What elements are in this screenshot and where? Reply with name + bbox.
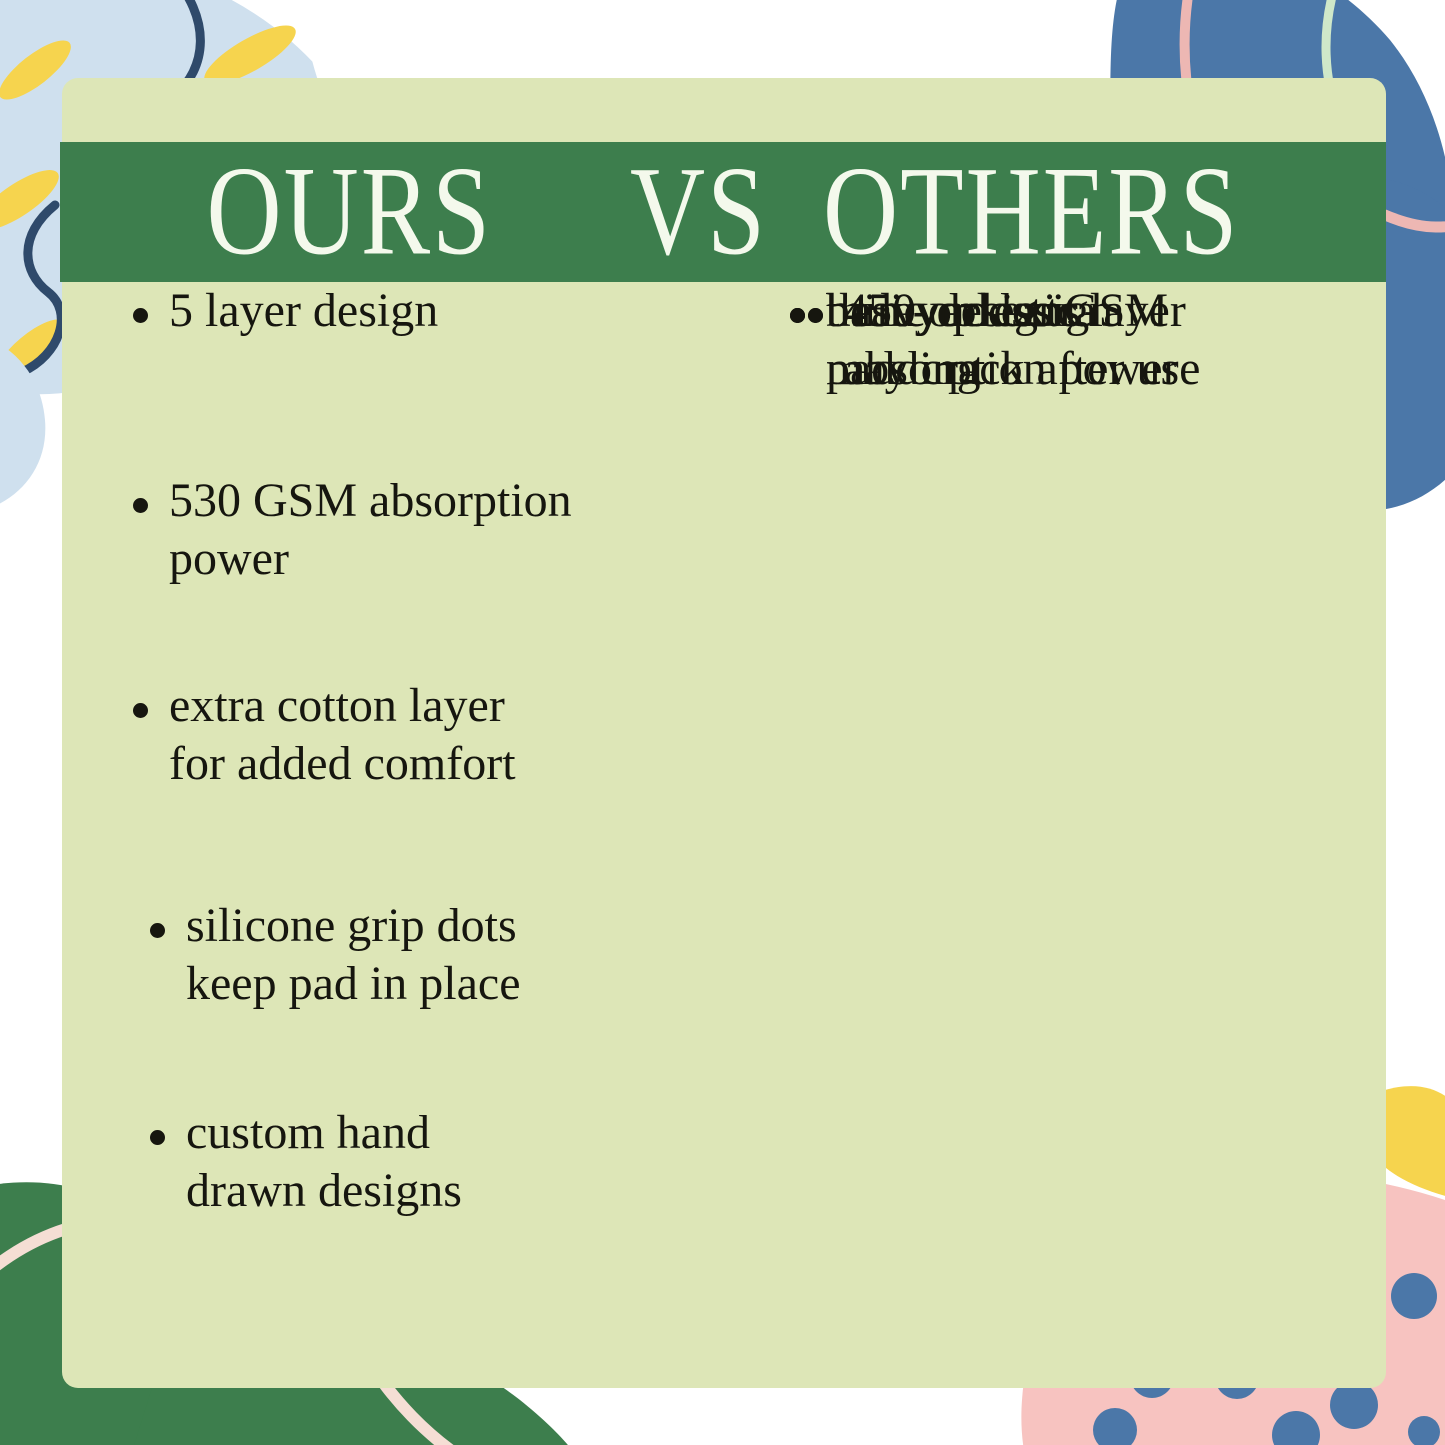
list-item-label: 5 layer design	[169, 282, 438, 340]
page-title: OURS VS OTHERS	[207, 149, 1240, 276]
list-item: custom hand drawn designs	[150, 1104, 462, 1220]
bullet-dot-icon	[150, 1130, 165, 1145]
list-item-label: silicone grip dots keep pad in place	[186, 897, 521, 1013]
list-item: 5 layer design	[133, 282, 438, 340]
list-item: silicone grip dots keep pad in place	[150, 897, 521, 1013]
list-item: 530 GSM absorption power	[133, 472, 572, 588]
list-item-label: custom hand drawn designs	[186, 1104, 462, 1220]
title-banner: OURS VS OTHERS	[60, 142, 1386, 282]
bullet-dot-icon	[133, 703, 148, 718]
list-item-label: 530 GSM absorption power	[169, 472, 572, 588]
bullet-dot-icon	[790, 308, 805, 323]
list-item-label: basic designs	[826, 282, 1081, 340]
bullet-dot-icon	[150, 923, 165, 938]
comparison-card: OURS VS OTHERS 5 layer design 530 GSM ab…	[62, 78, 1386, 1388]
column-ours: 5 layer design 530 GSM absorption power …	[62, 282, 790, 1388]
comparison-columns: 5 layer design 530 GSM absorption power …	[62, 282, 1386, 1388]
list-item: basic designs	[790, 282, 1081, 340]
infographic-canvas: OURS VS OTHERS 5 layer design 530 GSM ab…	[0, 0, 1445, 1445]
bullet-dot-icon	[133, 308, 148, 323]
list-item: extra cotton layer for added comfort	[133, 677, 516, 793]
bullet-dot-icon	[133, 498, 148, 513]
column-others: 4 layer design 450 or less GSM absorptio…	[790, 282, 1386, 1388]
list-item-label: extra cotton layer for added comfort	[169, 677, 516, 793]
